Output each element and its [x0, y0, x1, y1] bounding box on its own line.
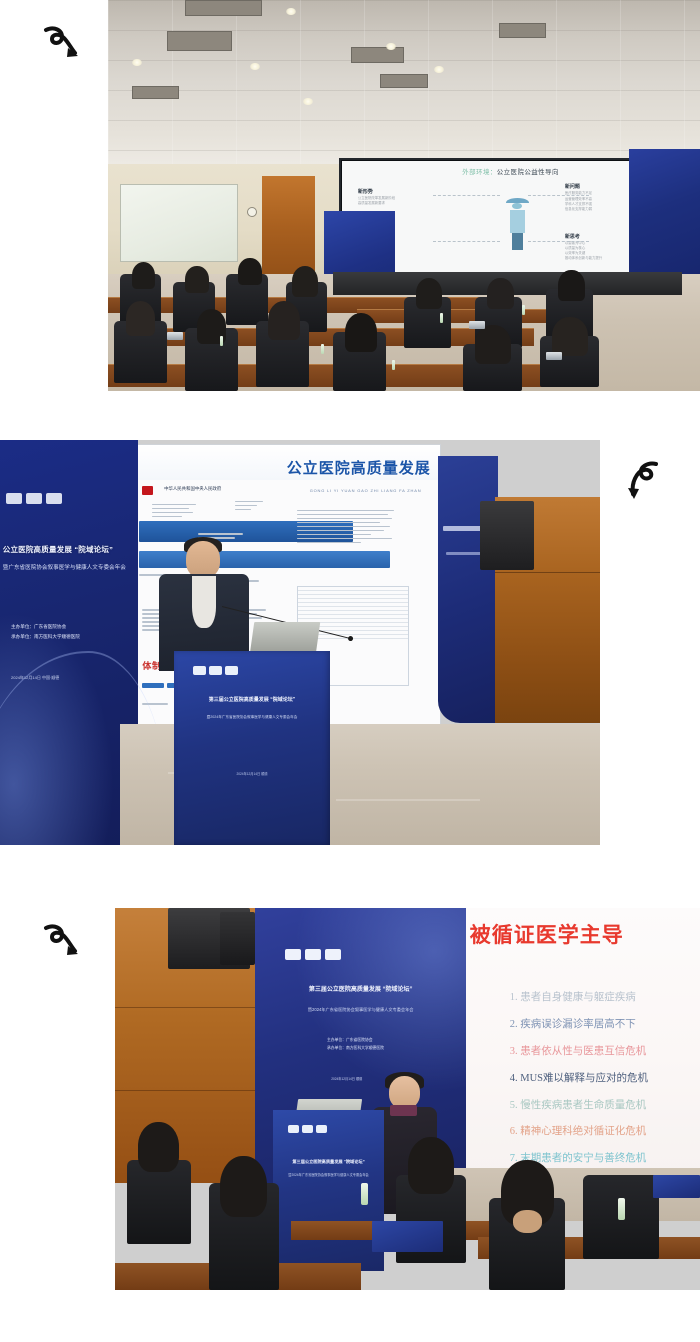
shunde-hospital-logo: [302, 1125, 313, 1133]
slide-bullet-list: 1. 患者自身健康与躯症疾病 2. 疾病误诊漏诊率居高不下 3. 患者依从性与医…: [470, 985, 700, 1172]
slide-bullet: 3. 患者依从性与医患互信危机: [510, 1039, 700, 1066]
ceiling-light: [286, 8, 296, 15]
host-label: 主办单位：广东省医院协会: [11, 622, 80, 632]
audience-neck: [513, 1210, 542, 1233]
event-backdrop-wall: 公立医院高质量发展 “院域论坛” 暨广东省医院协会叙事医学与健康人文专委会年会 …: [0, 440, 138, 845]
person-with-umbrella-illustration: [504, 198, 531, 250]
document-text-block: [297, 510, 402, 546]
sponsor-logo: [316, 1125, 327, 1133]
audience-person: [132, 262, 156, 289]
speaker-scarf: [390, 1105, 417, 1116]
bullet-text: 患者依从性与医患互信危机: [520, 1046, 646, 1057]
audience-person: [185, 266, 209, 293]
slide-title-accent: 外部环境：: [462, 169, 497, 176]
podium: 第三届公立医院高质量发展 “院域论坛” 暨2024年广东省医院协会叙事医学与健康…: [174, 651, 330, 845]
slide-connector: [433, 195, 501, 196]
bullet-text: 患者自身健康与躯症疾病: [520, 992, 636, 1003]
slide-connector: [528, 241, 589, 242]
slide-bullet: 1. 患者自身健康与躯症疾病: [510, 985, 700, 1012]
laptop: [546, 352, 562, 360]
backdrop-title: 公立医院高质量发展 “院域论坛”: [3, 545, 133, 556]
ceiling-light: [250, 63, 260, 70]
speaker-shirt: [192, 576, 216, 629]
slide-bullet: 6. 精神心理科绝对循证化危机: [510, 1119, 700, 1146]
podium-date: 2024年12月14日 顺德: [174, 771, 330, 776]
laptop: [167, 332, 183, 340]
ceiling-vent: [167, 31, 232, 51]
photo-auditorium-wide-shot: 外部环境：公立医院公益性导向 新形势 公立医院改革发展新阶段 高质量发展新要求 …: [108, 0, 700, 391]
bullet-number: 2.: [510, 1019, 518, 1030]
ceiling-vent: [132, 86, 179, 99]
organizer-label: 承办单位：南方医科大学顺德医院: [327, 1044, 384, 1052]
ceiling-speaker: [480, 501, 534, 570]
audience-head: [138, 1122, 179, 1172]
quadrant-line: 高质量发展新要求: [358, 201, 433, 206]
sponsor-logo: [46, 493, 62, 504]
shunde-hospital-logo: [26, 493, 42, 504]
slide-connector: [433, 241, 501, 242]
shunde-hospital-logo: [305, 949, 321, 960]
sponsor-logo-row: [6, 493, 62, 504]
slide-quadrant: 新形势 公立医院改革发展新阶段 高质量发展新要求: [358, 188, 433, 206]
table-name-card: [653, 1175, 700, 1198]
gov-site-label: 中华人民共和国中央人民政府: [164, 486, 221, 492]
slide-connector: [528, 195, 589, 196]
podium-logo-row: [288, 1125, 327, 1133]
laptop: [469, 321, 485, 329]
shunde-hospital-logo: [209, 666, 222, 675]
audience-head: [408, 1137, 455, 1194]
sponsor-logo: [225, 666, 238, 675]
water-bottle: [392, 360, 395, 370]
audience-person: [552, 317, 588, 356]
water-bottle: [618, 1198, 625, 1220]
guangdong-hospital-association-logo: [288, 1125, 299, 1133]
slide-bullet: 4. MUS难以解释与应对的危机: [510, 1066, 700, 1093]
slide-title-main: 公立医院公益性导向: [497, 169, 559, 176]
slide-heading: 被循证医学主导: [470, 919, 624, 949]
bullet-text: 慢性疾病患者生命质量危机: [520, 1100, 646, 1111]
side-whiteboard: [120, 184, 238, 262]
backdrop-title: 第三届公立医院高质量发展 “院域论坛”: [264, 986, 458, 995]
podium-logo-row: [193, 666, 238, 675]
bullet-text: MUS难以解释与应对的危机: [520, 1073, 648, 1084]
bullet-text: 疾病误诊漏诊率居高不下: [520, 1019, 636, 1030]
audience-person: [475, 325, 511, 364]
ceiling-vent: [351, 47, 404, 63]
audience-person: [268, 301, 301, 340]
curly-arrow-icon: [40, 22, 88, 75]
podium-subtitle: 暨2024年广东省医院协会叙事医学与健康人文专委会年会: [280, 1173, 378, 1178]
audience-person: [238, 258, 262, 285]
slide-bullet: 5. 慢性疾病患者生命质量危机: [510, 1093, 700, 1120]
bullet-number: 4.: [510, 1073, 518, 1084]
page-root: 外部环境：公立医院公益性导向 新形势 公立医院改革发展新阶段 高质量发展新要求 …: [0, 0, 700, 1342]
water-bottle: [440, 313, 443, 323]
ceiling-vent: [499, 23, 546, 37]
sponsor-logo-row: [285, 949, 341, 960]
document-text-block: [152, 504, 208, 520]
quadrant-label: 新形势: [358, 188, 433, 195]
audience-person: [345, 313, 378, 352]
roll-up-banner: [438, 456, 498, 723]
guangdong-hospital-association-logo: [285, 949, 301, 960]
speaker-head: [389, 1076, 421, 1108]
podium-title: 第三届公立医院高质量发展 “院域论坛”: [280, 1159, 378, 1165]
projection-screen: 被循证医学主导 1. 患者自身健康与躯症疾病 2. 疾病误诊漏诊率居高不下 3.…: [460, 908, 700, 1175]
audience-person: [292, 266, 319, 297]
document-text-block: [235, 501, 266, 513]
projected-title: 公立医院高质量发展: [287, 457, 431, 478]
backdrop-organizers: 主办单位：广东省医院协会 承办单位：南方医科大学顺德医院: [327, 1036, 384, 1053]
table-name-card: [372, 1221, 442, 1252]
water-bottle: [361, 1183, 368, 1205]
website-subnav: [139, 551, 390, 569]
ceiling-light: [303, 98, 313, 105]
backdrop-organizers: 主办单位：广东省医院协会 承办单位：南方医科大学顺德医院: [11, 622, 80, 641]
guangdong-hospital-association-logo: [193, 666, 206, 675]
ceiling-vent: [185, 0, 262, 16]
floor-seam: [336, 799, 480, 801]
ceiling-light: [132, 59, 142, 66]
slide-bullet: 2. 疾病误诊漏诊率居高不下: [510, 1012, 700, 1039]
bullet-text: 精神心理科绝对循证化危机: [520, 1126, 646, 1137]
curly-arrow-icon: [622, 458, 670, 511]
bullet-number: 6.: [510, 1126, 518, 1137]
photo-female-speaker-with-red-slide: 被循证医学主导 1. 患者自身健康与躯症疾病 2. 疾病误诊漏诊率居高不下 3.…: [115, 908, 700, 1290]
backdrop-date: 2024年12月14日 顺德: [331, 1076, 362, 1081]
audience-person: [416, 278, 443, 309]
audience-head: [220, 1156, 267, 1217]
backdrop-subtitle: 暨广东省医院协会叙事医学与健康人文专委会年会: [3, 564, 136, 572]
national-emblem-icon: [142, 486, 153, 495]
backdrop-subtitle: 暨2024年广东省医院协会叙事医学与健康人文专委会年会: [264, 1007, 458, 1014]
bullet-number: 3.: [510, 1046, 518, 1057]
organizer-label: 承办单位：南方医科大学顺德医院: [11, 632, 80, 642]
sponsor-logo: [325, 949, 341, 960]
ceiling-vent: [380, 74, 427, 87]
projected-title-pinyin: GONG LI YI YUAN GAO ZHI LIANG FA ZHAN: [310, 488, 422, 493]
podium-subtitle: 暨2024年广东省医院协会叙事医学与健康人文专委会年会: [183, 715, 320, 721]
audience-person: [487, 278, 514, 309]
bullet-number: 5.: [510, 1100, 518, 1111]
guangdong-hospital-association-logo: [6, 493, 22, 504]
host-label: 主办单位：广东省医院协会: [327, 1036, 384, 1044]
audience-person: [126, 301, 156, 336]
water-bottle: [321, 344, 324, 354]
podium-title: 第三届公立医院高质量发展 “院域论坛”: [183, 697, 320, 705]
audience-chair: [127, 1160, 191, 1244]
bullet-number: 1.: [510, 992, 518, 1003]
curly-arrow-icon: [40, 920, 88, 973]
ceiling-speaker: [220, 912, 255, 965]
audience-person: [558, 270, 585, 301]
water-bottle: [522, 305, 525, 315]
backdrop-date: 2024年12月14日 中国·顺德: [11, 675, 59, 681]
speaker-head: [186, 541, 220, 577]
photo-male-speaker-at-podium: 中华人民共和国中央人民政府 公立医院高质量发展 GONG LI YI YUAN …: [0, 440, 600, 845]
